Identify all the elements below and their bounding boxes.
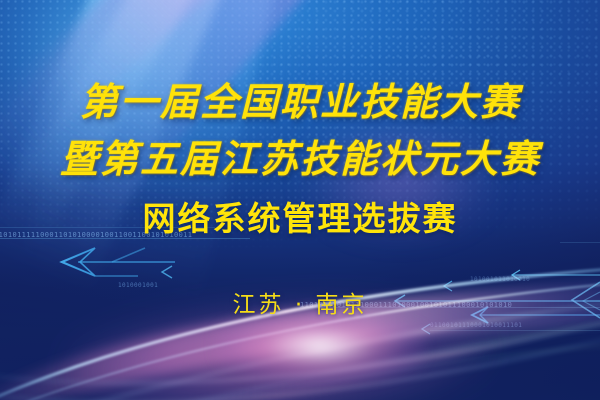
event-title-line-2: 暨第五届江苏技能状元大赛 — [0, 137, 600, 181]
event-banner: 0101011111000110101000010011001100101010… — [0, 0, 600, 400]
event-title-line-1: 第一届全国职业技能大赛 — [0, 80, 600, 124]
event-subtitle: 网络系统管理选拔赛 — [0, 199, 600, 239]
event-location: 江苏 · 南京 — [0, 290, 600, 320]
banner-text-block: 第一届全国职业技能大赛 暨第五届江苏技能状元大赛 网络系统管理选拔赛 江苏 · … — [0, 0, 600, 400]
